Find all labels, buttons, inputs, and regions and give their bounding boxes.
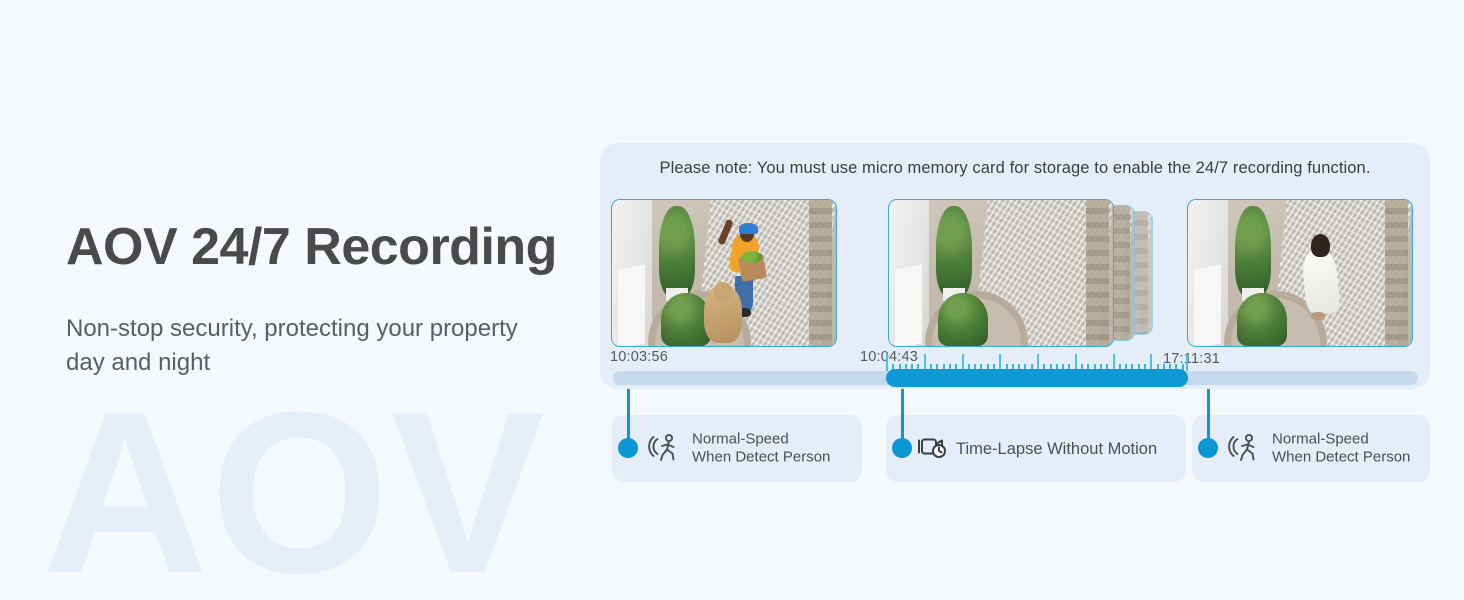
legend-card-1-line2: When Detect Person [692,449,830,466]
legend-card-1-text: Normal-Speed When Detect Person [692,430,830,467]
storage-note-text: Please note: You must use micro memory c… [600,159,1430,178]
connector-dot-1 [618,438,638,458]
connector-line-2 [901,389,904,439]
clip-timestamp-1: 10:03:56 [610,349,668,365]
page-subtitle: Non-stop security, protecting your prope… [66,312,526,380]
clip-thumbnail-3[interactable] [1187,199,1413,347]
aov-watermark-text: AOV [42,378,546,600]
legend-card-1-line1: Normal-Speed [692,430,789,447]
connector-dot-2 [892,438,912,458]
connector-line-1 [627,389,630,439]
timeline-tick-major [1186,354,1188,371]
clip-thumbnail-2[interactable] [888,199,1114,347]
walking-person-motion-icon [1228,429,1262,468]
camera-timelapse-icon [916,432,948,465]
legend-card-2[interactable]: Time-Lapse Without Motion [886,415,1186,482]
scene-person-waving-with-dog [612,200,836,346]
page-root: AOV AOV 24/7 Recording Non-stop security… [0,0,1464,600]
legend-card-3-line1: Normal-Speed [1272,430,1369,447]
legend-card-3-line2: When Detect Person [1272,449,1410,466]
legend-card-3[interactable]: Normal-Speed When Detect Person [1192,415,1430,482]
clip-thumbnail-1[interactable] [611,199,837,347]
scene-woman-walking [1188,200,1412,346]
recording-panel: Please note: You must use micro memory c… [600,143,1430,389]
clip-thumbnails-row [600,199,1430,349]
timeline-tick-major [886,354,888,371]
timeline-timelapse-segment[interactable] [886,369,1188,387]
connector-dot-3 [1198,438,1218,458]
page-title: AOV 24/7 Recording [66,218,596,276]
connector-line-3 [1207,389,1210,439]
walking-person-motion-icon [648,429,682,468]
legend-card-3-text: Normal-Speed When Detect Person [1272,430,1410,467]
scene-empty-driveway [889,200,1113,346]
legend-card-1[interactable]: Normal-Speed When Detect Person [612,415,862,482]
hero-text-block: AOV 24/7 Recording Non-stop security, pr… [66,218,596,380]
legend-card-2-text: Time-Lapse Without Motion [956,438,1157,458]
